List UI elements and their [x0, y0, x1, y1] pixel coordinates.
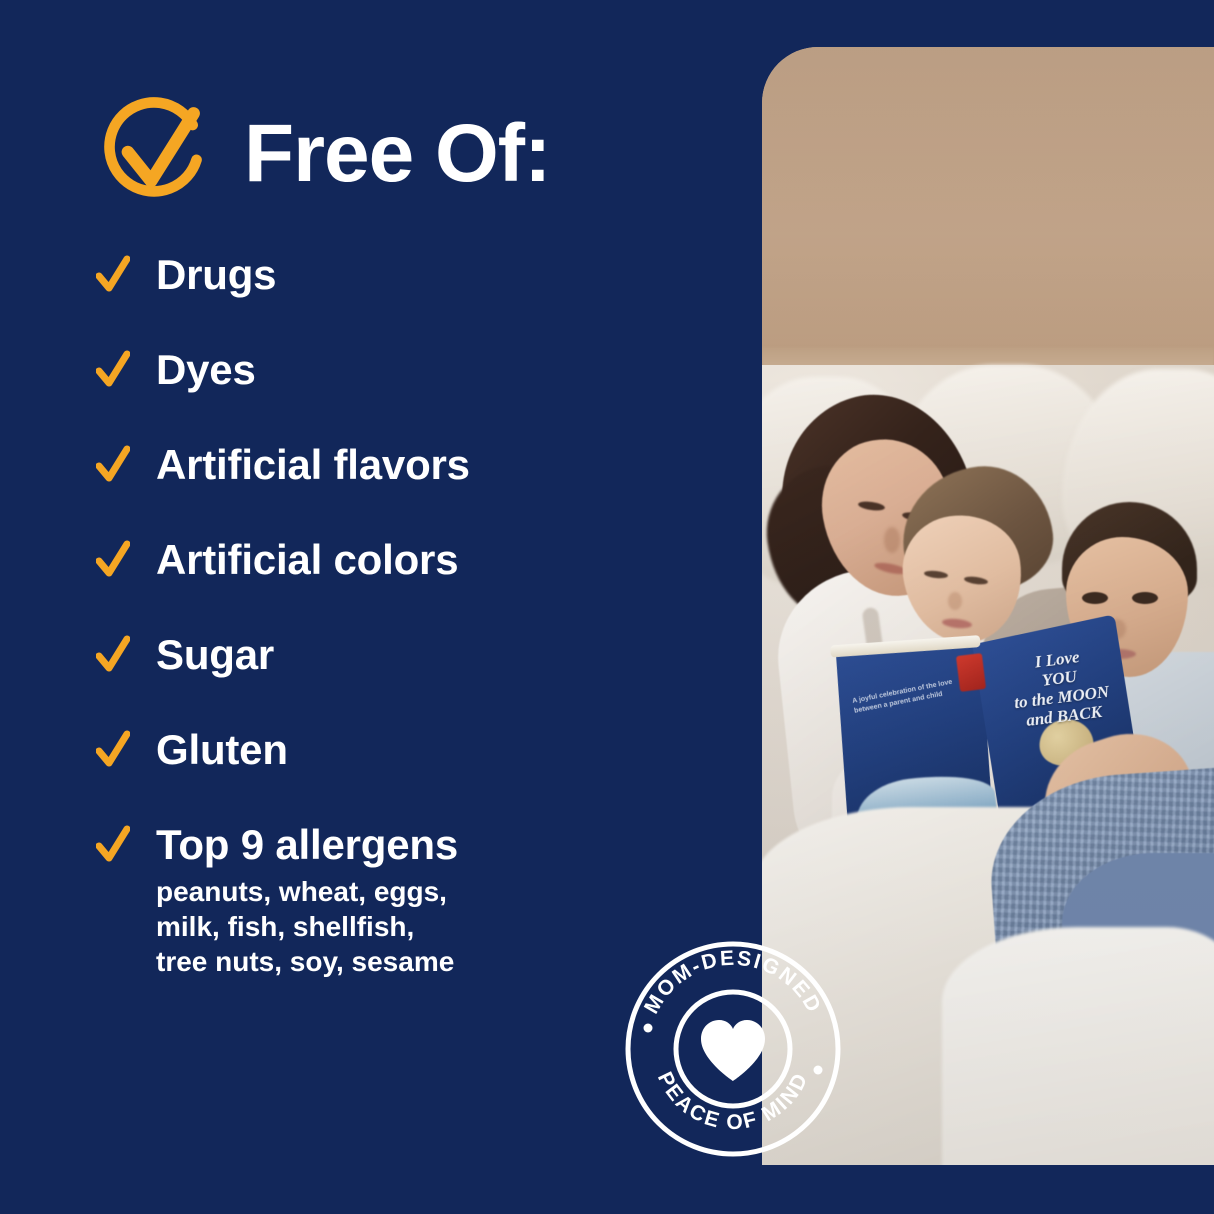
checkmark-icon [96, 539, 130, 581]
list-item: Dyes [96, 347, 716, 393]
photo-wall [762, 47, 1214, 387]
free-of-list: Drugs Dyes Artificial flavors Ar [96, 252, 716, 979]
free-of-promo-poster: A joyful celebration of the love between… [0, 0, 1214, 1214]
checkmark-icon [96, 729, 130, 771]
photo-white-blanket [942, 927, 1214, 1165]
list-item-label: Sugar [156, 632, 274, 678]
list-item-label: Artificial colors [156, 537, 458, 583]
checkmark-icon [96, 824, 130, 866]
list-item: Top 9 allergens peanuts, wheat, eggs, mi… [96, 822, 716, 979]
list-item: Drugs [96, 252, 716, 298]
photo-boy-eye [1132, 592, 1158, 604]
allergen-line: peanuts, wheat, eggs, [156, 876, 447, 907]
list-item-label: Drugs [156, 252, 276, 298]
page-heading: Free Of: [96, 96, 550, 212]
checkmark-icon [96, 444, 130, 486]
heart-icon [701, 1020, 765, 1081]
circle-check-icon [96, 96, 212, 212]
list-item: Gluten [96, 727, 716, 773]
list-item: Artificial flavors [96, 442, 716, 488]
list-item-label: Artificial flavors [156, 442, 470, 488]
photo-mother-nose [884, 527, 900, 553]
page-title: Free Of: [244, 113, 550, 195]
list-item: Artificial colors [96, 537, 716, 583]
seal-dot [814, 1066, 823, 1075]
photo-toddler-nose [948, 592, 962, 610]
mom-designed-seal: MOM-DESIGNED PEACE OF MIND [624, 940, 842, 1158]
list-item: Sugar [96, 632, 716, 678]
storybook-title: I Love YOU to the MOON and BACK [992, 642, 1128, 733]
allergen-sublist: peanuts, wheat, eggs, milk, fish, shellf… [156, 874, 458, 979]
allergen-line: tree nuts, soy, sesame [156, 946, 454, 977]
seal-graphic: MOM-DESIGNED PEACE OF MIND [624, 940, 842, 1158]
list-item-label: Gluten [156, 727, 288, 773]
checkmark-icon [96, 254, 130, 296]
list-item-label: Top 9 allergens [156, 822, 458, 868]
checkmark-icon [96, 349, 130, 391]
checkmark-icon [96, 634, 130, 676]
seal-top-text: MOM-DESIGNED [640, 947, 826, 1018]
seal-dot [644, 1024, 653, 1033]
allergen-line: milk, fish, shellfish, [156, 911, 414, 942]
list-item-label: Dyes [156, 347, 256, 393]
photo-boy-eye [1082, 592, 1108, 604]
